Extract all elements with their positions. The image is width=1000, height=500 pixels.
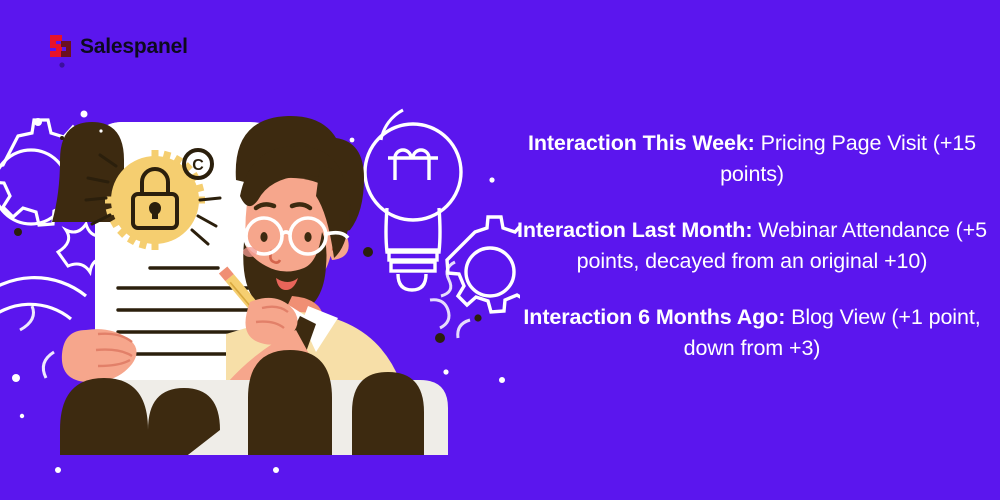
interaction-line-1: Interaction This Week: Pricing Page Visi… xyxy=(512,128,992,189)
character-cheeks xyxy=(243,247,257,257)
decorative-squiggle-left xyxy=(20,306,54,378)
svg-text:C: C xyxy=(192,157,204,174)
interaction-1-lead: Interaction This Week: xyxy=(528,131,755,155)
illustration: C xyxy=(0,0,520,500)
salespanel-logo-icon xyxy=(48,32,73,60)
brand-logo[interactable]: Salespanel xyxy=(48,32,188,60)
interaction-3-lead: Interaction 6 Months Ago: xyxy=(523,305,785,329)
bottom-right-fill xyxy=(424,455,520,500)
magnifier-circle-icon xyxy=(0,278,86,322)
interaction-line-3: Interaction 6 Months Ago: Blog View (+1 … xyxy=(512,302,992,363)
brand-wordmark: Salespanel xyxy=(80,36,188,57)
interaction-2-lead: Interaction Last Month: xyxy=(517,218,752,242)
gear-icon-right xyxy=(447,217,520,312)
bottom-wave-dark-3 xyxy=(352,372,424,458)
banner-canvas: C xyxy=(0,0,1000,500)
interaction-1-rest: Pricing Page Visit (+15 points) xyxy=(720,131,976,186)
bottom-wave-dark-2 xyxy=(248,350,332,458)
content-column: Interaction This Week: Pricing Page Visi… xyxy=(512,128,992,363)
interaction-line-2: Interaction Last Month: Webinar Attendan… xyxy=(512,215,992,276)
